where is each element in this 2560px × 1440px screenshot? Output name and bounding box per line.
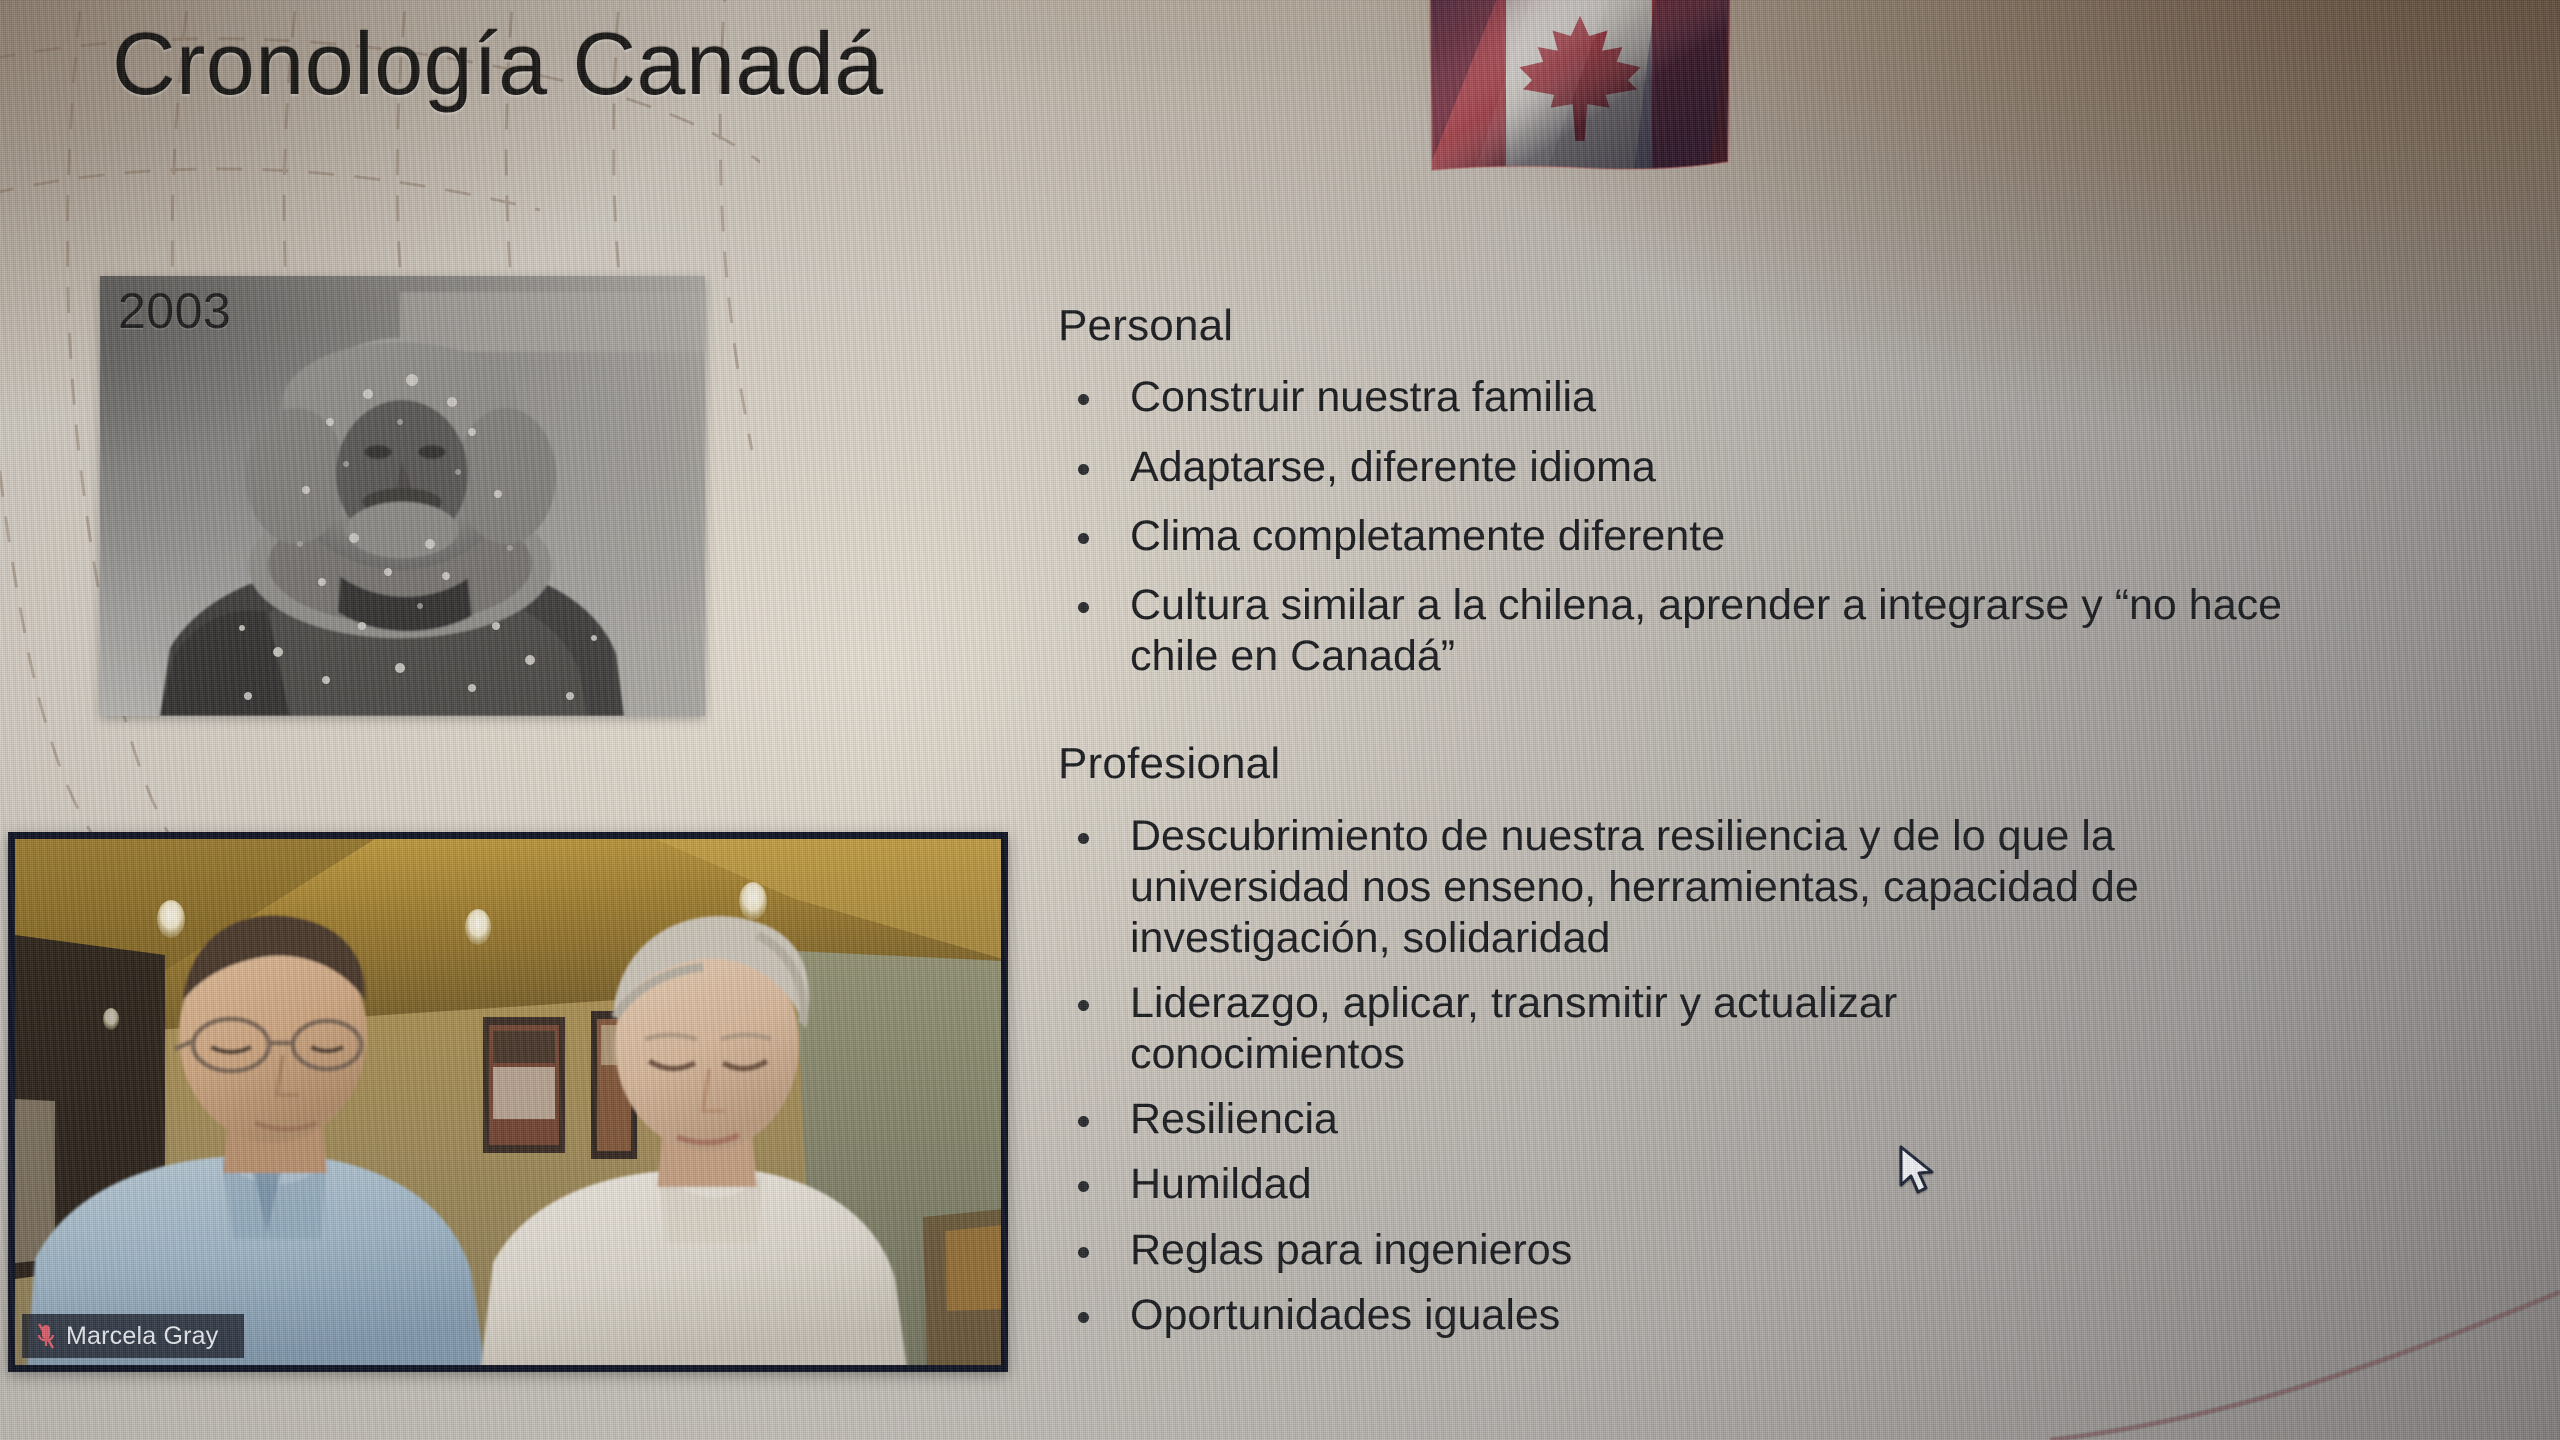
screen-vignette	[0, 0, 2560, 1440]
slide-screenshot: Cronología Canadá	[0, 0, 2560, 1440]
